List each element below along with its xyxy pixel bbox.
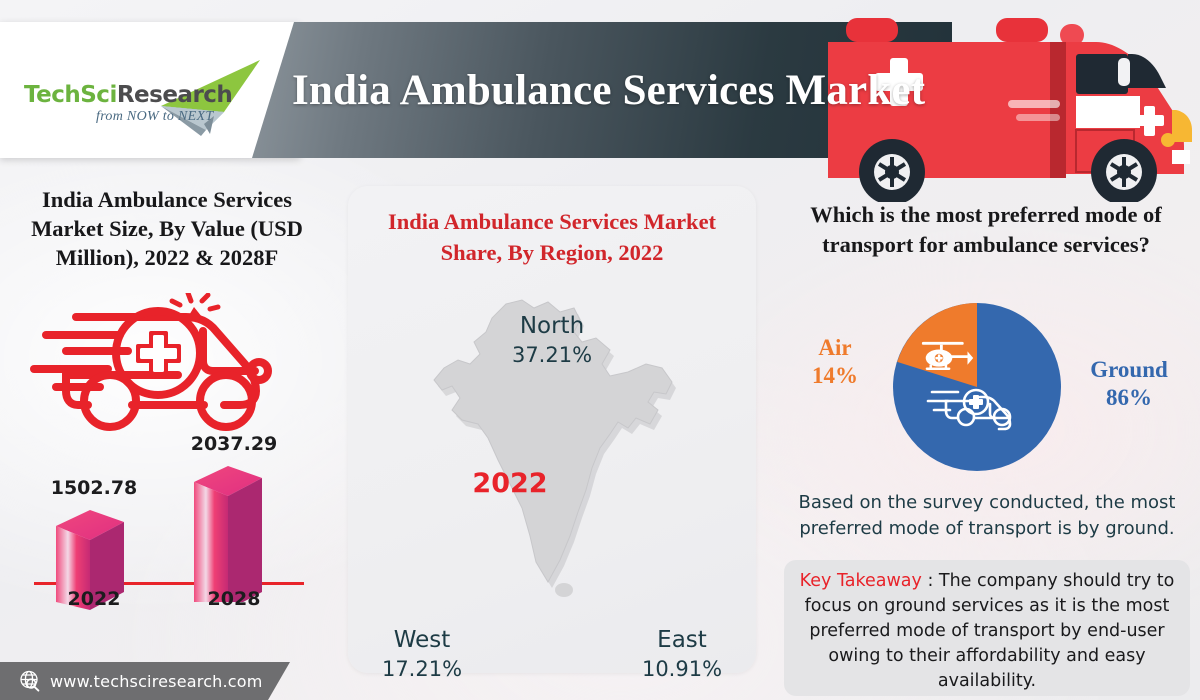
pie-label-ground: Ground 86%	[1070, 356, 1188, 412]
key-takeaway-text: Key Takeaway : The company should try to…	[798, 569, 1176, 694]
key-takeaway-box: Key Takeaway : The company should try to…	[784, 560, 1190, 696]
region-north: North 37.21%	[472, 312, 632, 369]
pie-label-air-value: 14%	[792, 361, 878, 390]
globe-search-icon	[18, 669, 42, 693]
region-east: East 10.91%	[616, 626, 748, 683]
regional-share-panel: India Ambulance Services Market Share, B…	[348, 186, 756, 673]
bar-label-2028: 2028	[164, 588, 304, 610]
region-west: West 17.21%	[358, 626, 486, 683]
survey-question: Which is the most preferred mode of tran…	[772, 200, 1200, 260]
pie-label-ground-value: 86%	[1070, 383, 1188, 412]
region-north-name: North	[472, 312, 632, 341]
brand-logo[interactable]: TechSciResearch from NOW to NEXT	[18, 46, 278, 136]
pie-label-air: Air 14%	[792, 334, 878, 390]
logo-tech-text: TechSci	[24, 82, 117, 108]
survey-note: Based on the survey conducted, the most …	[780, 490, 1194, 542]
market-size-bar-chart: 1502.78 2022	[32, 430, 312, 625]
bar-shape-2028	[184, 462, 304, 602]
bar-label-2022: 2022	[24, 588, 164, 610]
logo-tagline: from NOW to NEXT	[96, 109, 213, 125]
header: TechSciResearch from NOW to NEXT India A…	[0, 22, 1200, 158]
region-west-value: 17.21%	[358, 655, 486, 683]
page-title: India Ambulance Services Market	[292, 22, 1052, 158]
pie-label-ground-name: Ground	[1070, 356, 1188, 383]
ambulance-line-icon	[28, 293, 298, 443]
region-north-value: 37.21%	[472, 341, 632, 369]
logo-wordmark: TechSciResearch	[24, 82, 232, 108]
market-size-panel: India Ambulance Services Market Size, By…	[2, 185, 332, 625]
bar-value-2022: 1502.78	[24, 477, 164, 499]
key-takeaway-label: Key Takeaway	[800, 571, 922, 591]
footer-url-link[interactable]: www.techsciresearch.com	[50, 672, 263, 691]
pie-label-air-name: Air	[792, 334, 878, 361]
region-east-value: 10.91%	[616, 655, 748, 683]
transport-pie-chart	[892, 302, 1062, 472]
logo-research-text: Research	[117, 82, 232, 108]
region-west-name: West	[358, 626, 486, 655]
region-east-name: East	[616, 626, 748, 655]
market-size-title: India Ambulance Services Market Size, By…	[2, 185, 332, 272]
footer-bar: www.techsciresearch.com	[0, 662, 290, 700]
transport-mode-panel: Which is the most preferred mode of tran…	[772, 200, 1200, 700]
key-takeaway-separator: :	[922, 571, 939, 591]
regional-share-title: India Ambulance Services Market Share, B…	[358, 206, 746, 268]
map-year-label: 2022	[430, 468, 590, 499]
bar-value-2028: 2037.29	[164, 433, 304, 455]
